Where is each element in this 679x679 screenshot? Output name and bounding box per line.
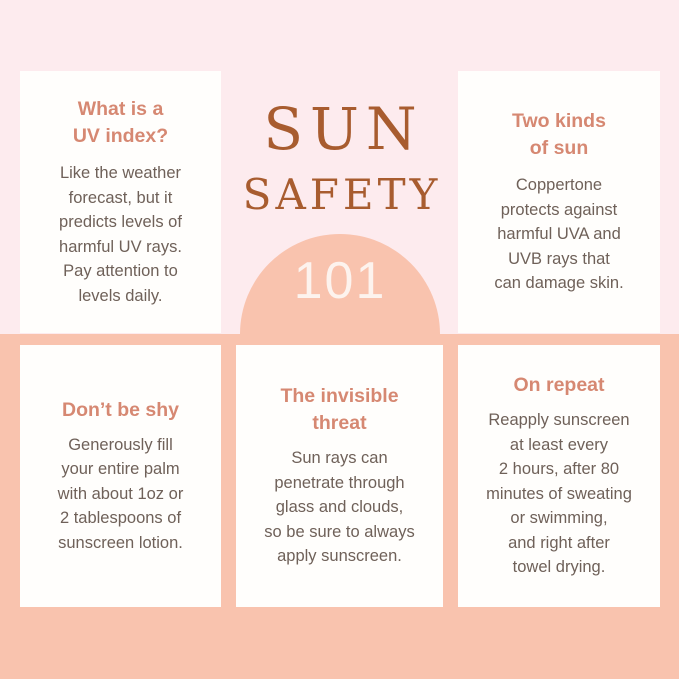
body-line: harmful UVA and bbox=[497, 225, 621, 243]
body-line: Reapply sunscreen bbox=[488, 411, 629, 429]
title-line: Don’t be shy bbox=[62, 399, 179, 421]
body-line: can damage skin. bbox=[494, 274, 623, 292]
hero-title-line2: SAFETY bbox=[230, 172, 450, 218]
body-line: sunscreen lotion. bbox=[58, 534, 183, 552]
title-line: On repeat bbox=[513, 374, 604, 396]
title-line: threat bbox=[312, 412, 366, 434]
body-line: penetrate through bbox=[274, 474, 404, 492]
body-line: so be sure to always bbox=[264, 523, 414, 541]
card-two-kinds-of-sun-title: Two kinds of sun bbox=[512, 108, 606, 162]
body-line: 2 hours, after 80 bbox=[499, 460, 619, 478]
body-line: forecast, but it bbox=[69, 189, 173, 207]
card-two-kinds-of-sun-body: Coppertone protects against harmful UVA … bbox=[494, 173, 623, 296]
body-line: or swimming, bbox=[510, 509, 607, 527]
card-uv-index: What is a UV index? Like the weather for… bbox=[20, 71, 221, 333]
body-line: UVB rays that bbox=[508, 250, 610, 268]
title-line: of sun bbox=[530, 137, 589, 159]
body-line: Pay attention to bbox=[63, 262, 178, 280]
body-line: predicts levels of bbox=[59, 213, 182, 231]
card-invisible-threat-title: The invisible threat bbox=[280, 383, 398, 437]
body-line: minutes of sweating bbox=[486, 485, 632, 503]
title-line: What is a bbox=[78, 98, 164, 120]
body-line: protects against bbox=[501, 201, 617, 219]
title-line: The invisible bbox=[280, 385, 398, 407]
body-line: Sun rays can bbox=[291, 449, 387, 467]
card-dont-be-shy: Don’t be shy Generously fill your entire… bbox=[20, 345, 221, 607]
body-line: levels daily. bbox=[78, 287, 162, 305]
card-on-repeat-title: On repeat bbox=[513, 372, 604, 399]
card-dont-be-shy-body: Generously fill your entire palm with ab… bbox=[58, 433, 184, 556]
body-line: at least every bbox=[510, 436, 608, 454]
body-line: Generously fill bbox=[68, 436, 173, 454]
body-line: apply sunscreen. bbox=[277, 547, 402, 565]
body-line: Like the weather bbox=[60, 164, 181, 182]
hero-badge-101: 101 bbox=[230, 252, 450, 310]
title-line: Two kinds bbox=[512, 110, 606, 132]
card-invisible-threat-body: Sun rays can penetrate through glass and… bbox=[264, 446, 414, 569]
body-line: harmful UV rays. bbox=[59, 238, 182, 256]
card-uv-index-title: What is a UV index? bbox=[73, 96, 168, 150]
hero-title-line1: SUN bbox=[230, 98, 450, 160]
title-line: UV index? bbox=[73, 125, 168, 147]
body-line: towel drying. bbox=[513, 558, 606, 576]
card-two-kinds-of-sun: Two kinds of sun Coppertone protects aga… bbox=[458, 71, 660, 333]
body-line: 2 tablespoons of bbox=[60, 509, 181, 527]
card-dont-be-shy-title: Don’t be shy bbox=[62, 397, 179, 424]
body-line: your entire palm bbox=[61, 460, 179, 478]
sun-safety-infographic: SUN SAFETY 101 What is a UV index? Like … bbox=[0, 0, 679, 679]
body-line: glass and clouds, bbox=[276, 498, 404, 516]
body-line: Coppertone bbox=[516, 176, 602, 194]
card-on-repeat-body: Reapply sunscreen at least every 2 hours… bbox=[486, 408, 632, 580]
card-uv-index-body: Like the weather forecast, but it predic… bbox=[59, 161, 182, 308]
card-invisible-threat: The invisible threat Sun rays can penetr… bbox=[236, 345, 443, 607]
card-on-repeat: On repeat Reapply sunscreen at least eve… bbox=[458, 345, 660, 607]
body-line: and right after bbox=[508, 534, 610, 552]
body-line: with about 1oz or bbox=[58, 485, 184, 503]
hero-title-block: SUN SAFETY 101 bbox=[230, 60, 450, 335]
